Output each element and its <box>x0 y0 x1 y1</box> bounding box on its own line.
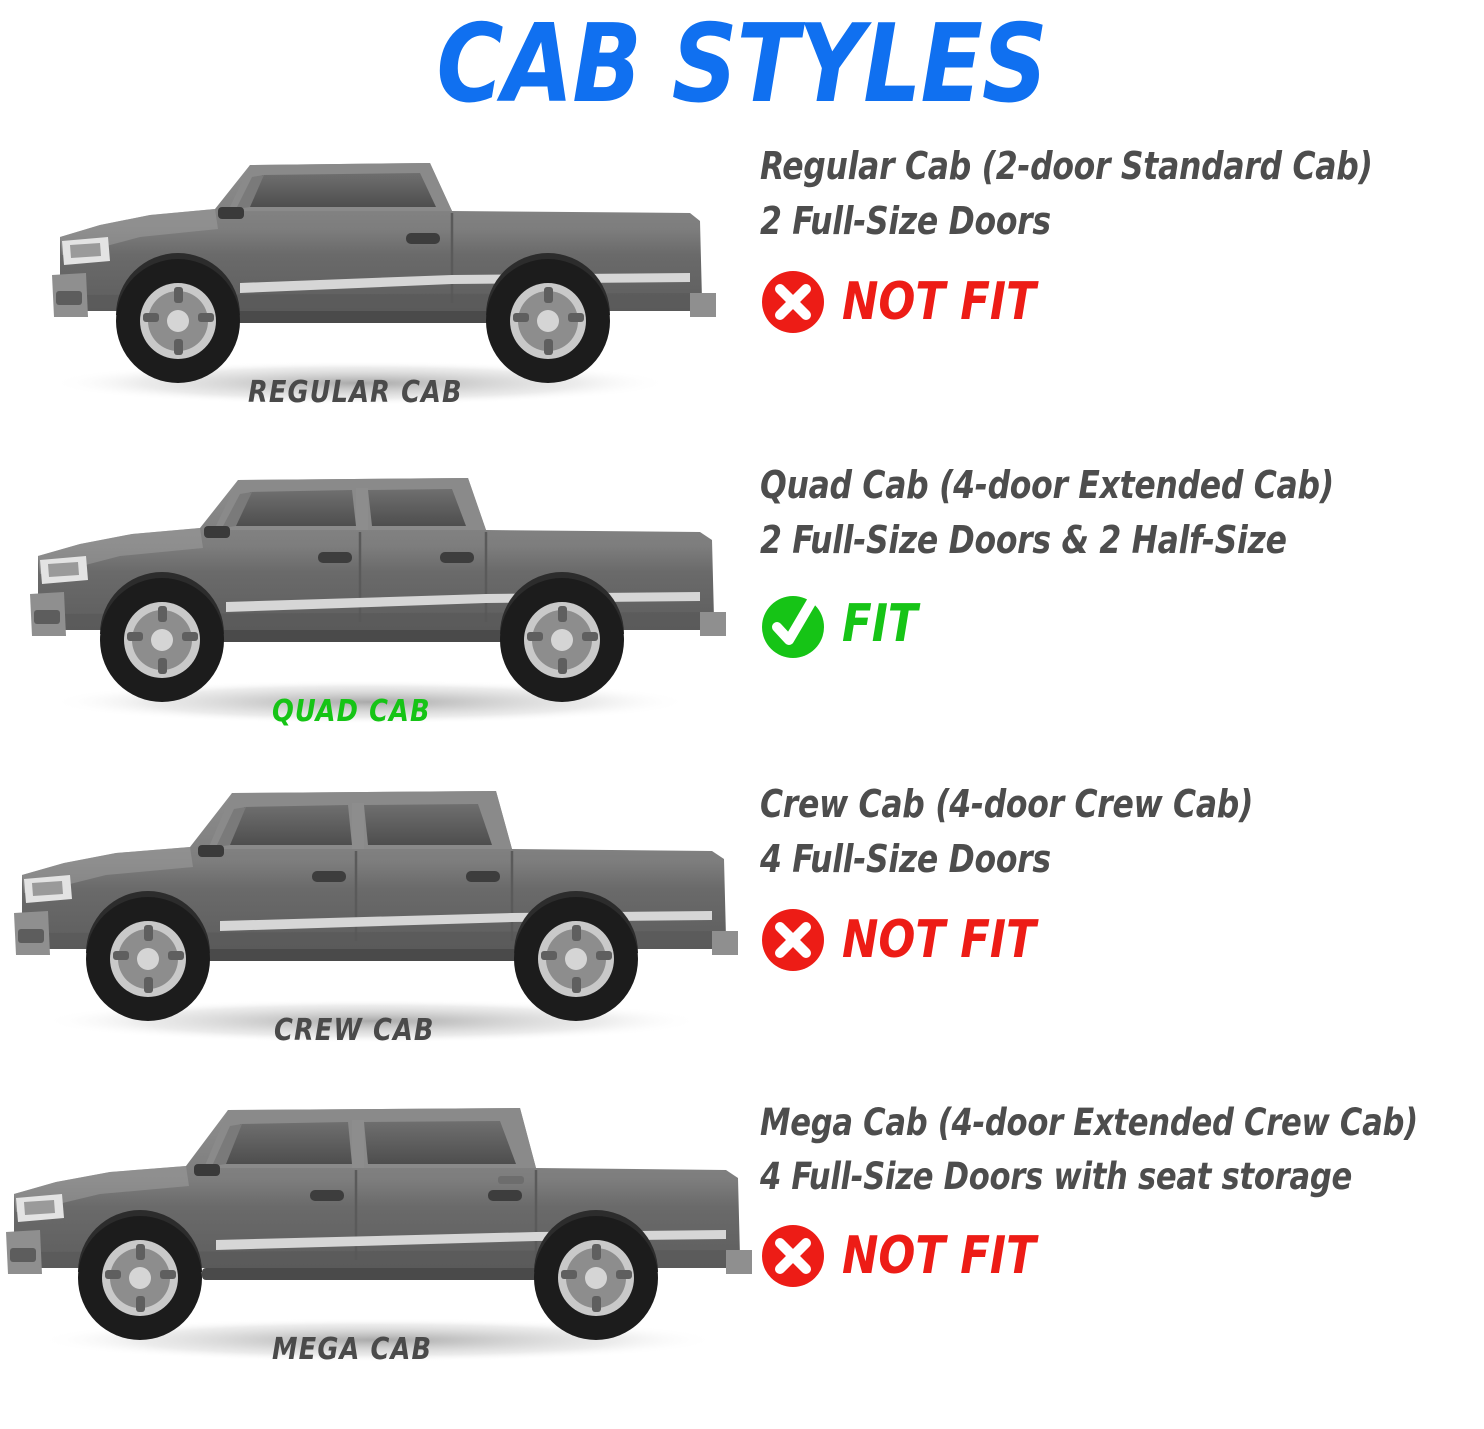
cab-label-quad: QUAD CAB <box>272 694 431 729</box>
cab-text-regular: Regular Cab (2-door Standard Cab) 2 Full… <box>760 125 1484 335</box>
cab-label-regular: REGULAR CAB <box>248 375 463 410</box>
fit-status-crew: NOT FIT <box>760 907 1484 973</box>
cab-text-crew: Crew Cab (4-door Crew Cab) 4 Full-Size D… <box>760 763 1484 973</box>
fit-status-regular: NOT FIT <box>760 269 1484 335</box>
title-bar: CAB STYLES <box>0 0 1484 125</box>
truck-image-mega: MEGA CAB <box>0 1082 760 1382</box>
cab-doors-regular: 2 Full-Size Doors <box>760 194 1426 249</box>
red-x-circle-icon <box>760 907 826 973</box>
green-check-circle-icon <box>760 588 826 660</box>
cab-title-mega: Mega Cab (4-door Extended Crew Cab) <box>760 1096 1426 1150</box>
cab-doors-quad: 2 Full-Size Doors & 2 Half-Size <box>760 513 1426 568</box>
fit-label-crew: NOT FIT <box>842 914 1036 966</box>
fit-label-regular: NOT FIT <box>842 276 1036 328</box>
truck-image-regular: REGULAR CAB <box>0 125 760 425</box>
fit-label-quad: FIT <box>842 598 918 650</box>
cab-doors-mega: 4 Full-Size Doors with seat storage <box>760 1150 1426 1204</box>
truck-image-quad: QUAD CAB <box>0 444 760 744</box>
cab-row-crew: CREW CAB Crew Cab (4-door Crew Cab) 4 Fu… <box>0 763 1484 1082</box>
cab-label-crew: CREW CAB <box>274 1013 435 1048</box>
cab-title-crew: Crew Cab (4-door Crew Cab) <box>760 777 1426 832</box>
red-x-circle-icon <box>760 1223 826 1289</box>
fit-label-mega: NOT FIT <box>842 1230 1036 1282</box>
cab-text-quad: Quad Cab (4-door Extended Cab) 2 Full-Si… <box>760 444 1484 660</box>
cab-label-mega: MEGA CAB <box>272 1332 432 1367</box>
cab-styles-infographic: CAB STYLES <box>0 0 1484 1429</box>
cab-title-quad: Quad Cab (4-door Extended Cab) <box>760 458 1426 513</box>
cab-row-quad: QUAD CAB Quad Cab (4-door Extended Cab) … <box>0 444 1484 763</box>
fit-status-quad: FIT <box>760 588 1484 660</box>
cab-title-regular: Regular Cab (2-door Standard Cab) <box>760 139 1426 194</box>
page-title: CAB STYLES <box>437 11 1047 119</box>
red-x-circle-icon <box>760 269 826 335</box>
cab-text-mega: Mega Cab (4-door Extended Crew Cab) 4 Fu… <box>760 1082 1484 1289</box>
truck-image-crew: CREW CAB <box>0 763 760 1063</box>
fit-status-mega: NOT FIT <box>760 1223 1484 1289</box>
cab-row-mega: MEGA CAB Mega Cab (4-door Extended Crew … <box>0 1082 1484 1401</box>
cab-doors-crew: 4 Full-Size Doors <box>760 832 1426 887</box>
cab-rows: REGULAR CAB Regular Cab (2-door Standard… <box>0 125 1484 1401</box>
cab-row-regular: REGULAR CAB Regular Cab (2-door Standard… <box>0 125 1484 444</box>
